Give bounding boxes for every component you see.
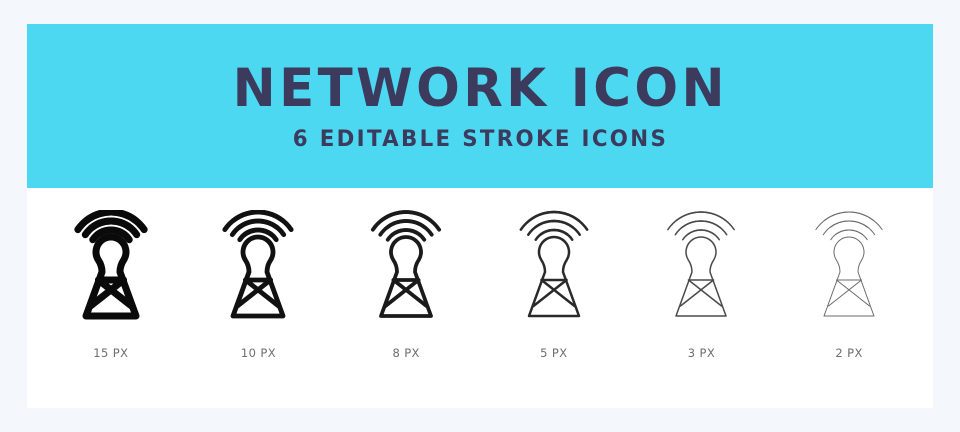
tower-cross-brace [689,280,722,306]
icon-cell-8-px[interactable]: 8 PX [336,210,476,360]
icon-size-label: 5 PX [540,346,567,360]
network-tower-icon [649,210,753,332]
page-root: NETWORK ICON 6 EDITABLE STROKE ICONS 15 … [0,0,960,432]
signal-wave-arc-right-1 [831,230,863,240]
tower-cross-brace [681,280,714,306]
page-title: NETWORK ICON [232,62,727,115]
network-tower-icon [206,210,310,332]
icon-showcase-card: 15 PX10 PX8 PX5 PX3 PX2 PX [27,188,933,408]
network-tower-icon [59,210,163,332]
banner: NETWORK ICON 6 EDITABLE STROKE ICONS [27,24,933,188]
signal-wave-arc-right-2 [676,221,721,235]
signal-wave-arc-right-2 [823,221,868,235]
page-subtitle: 6 EDITABLE STROKE ICONS [292,129,667,151]
icon-size-label: 10 PX [241,346,276,360]
tower-cross-brace [837,280,870,306]
icon-row: 15 PX10 PX8 PX5 PX3 PX2 PX [27,188,933,408]
network-tower-icon [502,210,606,332]
icon-cell-10-px[interactable]: 10 PX [188,210,328,360]
icon-cell-2-px[interactable]: 2 PX [779,210,919,360]
icon-size-label: 2 PX [835,346,862,360]
icon-cell-5-px[interactable]: 5 PX [484,210,624,360]
icon-size-label: 8 PX [392,346,419,360]
icon-size-label: 15 PX [93,346,128,360]
icon-cell-3-px[interactable]: 3 PX [631,210,771,360]
icon-cell-15-px[interactable]: 15 PX [41,210,181,360]
tower-cross-brace [829,280,862,306]
network-tower-icon [797,210,901,332]
signal-wave-arc-right-1 [683,230,715,240]
network-tower-icon [354,210,458,332]
icon-size-label: 3 PX [688,346,715,360]
